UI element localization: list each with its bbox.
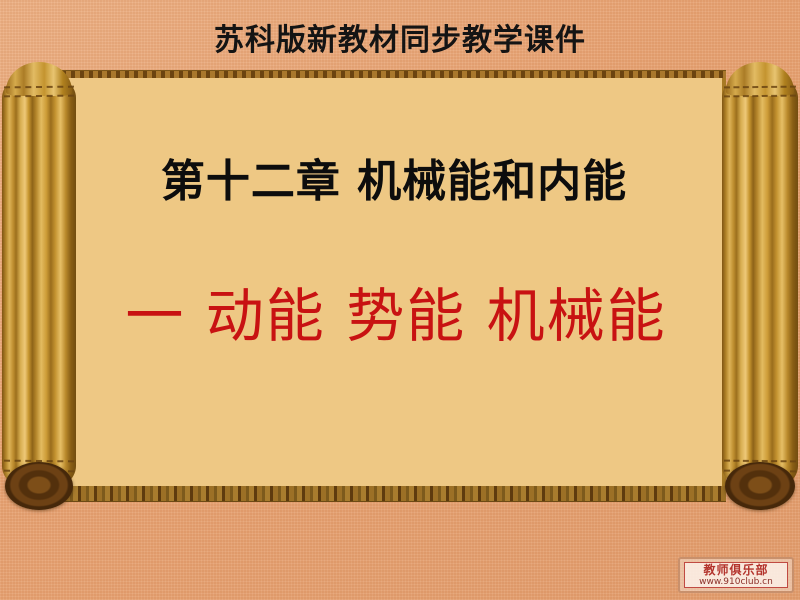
rod-bottom-endcap [5, 462, 73, 510]
watermark-inner-frame: 教师俱乐部 www.910club.cn [684, 562, 788, 588]
lesson-title: 一 动能 势能 机械能 [56, 278, 736, 354]
rod-top-cap [6, 62, 72, 96]
watermark-badge: 教师俱乐部 www.910club.cn [678, 557, 794, 593]
slide-canvas: 苏科版新教材同步教学课件 第十二章 机械能和内能 一 动能 势能 机械能 教师俱… [0, 0, 800, 600]
rod-top-cap [726, 62, 794, 96]
watermark-url: www.910club.cn [685, 577, 787, 587]
page-header-title: 苏科版新教材同步教学课件 [0, 22, 800, 60]
rod-bottom-endcap [725, 462, 795, 510]
chapter-title: 第十二章 机械能和内能 [62, 152, 726, 212]
panel-top-trim [62, 70, 726, 78]
watermark-name: 教师俱乐部 [685, 563, 787, 577]
panel-bottom-trim [62, 486, 726, 502]
